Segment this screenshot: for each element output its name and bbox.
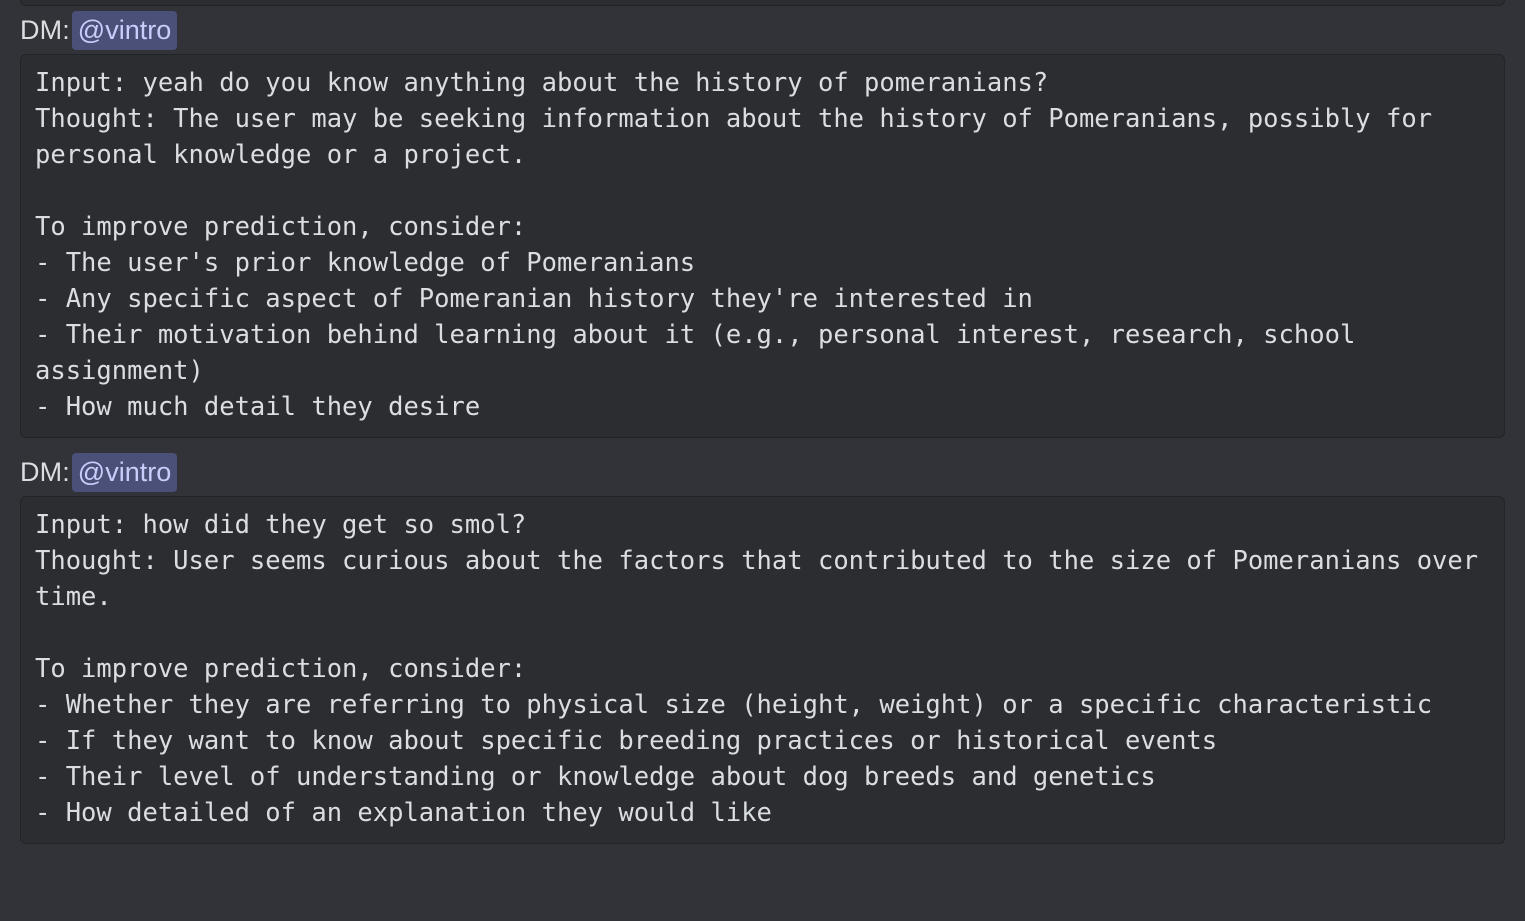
dm-label: DM: [20, 454, 70, 490]
message-group: DM: @vintro Input: yeah do you know anyt… [0, 8, 1525, 438]
message-stream: DM: @vintro Input: yeah do you know anyt… [0, 8, 1525, 844]
message-group: DM: @vintro Input: how did they get so s… [0, 450, 1525, 844]
previous-codeblock-partial [20, 0, 1505, 6]
mention-vintro[interactable]: @vintro [72, 453, 177, 492]
codeblock-text: Input: how did they get so smol? Thought… [35, 507, 1490, 831]
message-header: DM: @vintro [0, 450, 1525, 496]
message-header: DM: @vintro [0, 8, 1525, 54]
mention-vintro[interactable]: @vintro [72, 11, 177, 50]
dm-label: DM: [20, 12, 70, 48]
codeblock: Input: yeah do you know anything about t… [20, 54, 1505, 438]
codeblock-text: Input: yeah do you know anything about t… [35, 65, 1490, 425]
chat-viewport: DM: @vintro Input: yeah do you know anyt… [0, 0, 1525, 921]
codeblock: Input: how did they get so smol? Thought… [20, 496, 1505, 844]
group-spacer [0, 438, 1525, 450]
